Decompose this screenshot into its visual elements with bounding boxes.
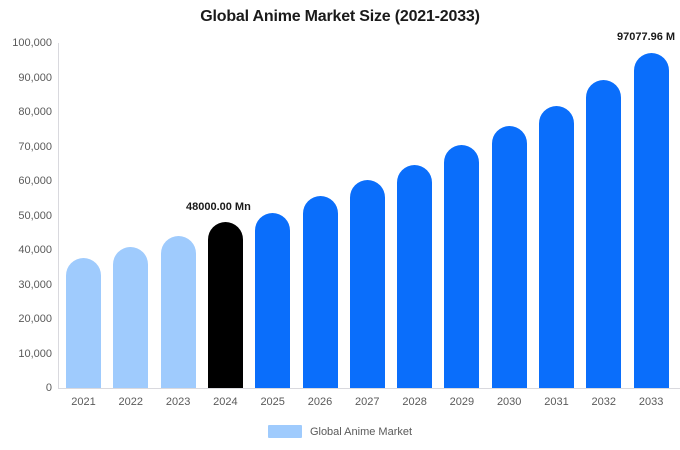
bar-2023[interactable] [161,236,196,388]
bar-slot-2028[interactable] [397,43,432,388]
legend-label-global-anime-market: Global Anime Market [310,426,412,438]
bar-slot-2031[interactable] [539,43,574,388]
chart-legend: Global Anime Market [0,425,680,438]
value-annotation-2033: 97077.96 M [617,31,675,43]
bar-2026[interactable] [303,196,338,388]
bar-slot-2029[interactable] [444,43,479,388]
bar-2030[interactable] [492,126,527,388]
bar-2028[interactable] [397,165,432,388]
y-tick-label: 100,000 [0,37,52,49]
y-tick-label: 40,000 [0,244,52,256]
bar-slot-2021[interactable] [66,43,101,388]
x-axis-line [58,388,680,389]
plot-area [58,43,680,388]
y-tick-label: 60,000 [0,175,52,187]
bar-slot-2026[interactable] [303,43,338,388]
x-tick-label-2033: 2033 [623,396,679,408]
bar-slot-2032[interactable] [586,43,621,388]
y-tick-label: 10,000 [0,348,52,360]
bar-slot-2025[interactable] [255,43,290,388]
y-tick-label: 20,000 [0,313,52,325]
bar-slot-2024[interactable] [208,43,243,388]
bar-2024[interactable] [208,222,243,388]
y-axis-tick-labels: 010,00020,00030,00040,00050,00060,00070,… [0,0,52,450]
bar-slot-2023[interactable] [161,43,196,388]
bar-slot-2022[interactable] [113,43,148,388]
bar-2025[interactable] [255,213,290,388]
y-tick-label: 50,000 [0,210,52,222]
bar-2021[interactable] [66,258,101,388]
bar-slot-2027[interactable] [350,43,385,388]
y-tick-label: 80,000 [0,106,52,118]
bar-2027[interactable] [350,180,385,388]
y-tick-label: 70,000 [0,141,52,153]
bar-2022[interactable] [113,247,148,388]
value-annotation-2024: 48000.00 Mn [186,201,251,213]
y-tick-label: 0 [0,382,52,394]
bar-chart: Global Anime Market Size (2021-2033) 010… [0,0,680,450]
y-tick-label: 30,000 [0,279,52,291]
bar-2033[interactable] [634,53,669,388]
bar-slot-2033[interactable] [634,43,669,388]
bar-slot-2030[interactable] [492,43,527,388]
legend-swatch-global-anime-market [268,425,302,438]
bar-2032[interactable] [586,80,621,388]
bar-2031[interactable] [539,106,574,388]
bar-2029[interactable] [444,145,479,388]
y-tick-label: 90,000 [0,72,52,84]
chart-title: Global Anime Market Size (2021-2033) [0,8,680,26]
